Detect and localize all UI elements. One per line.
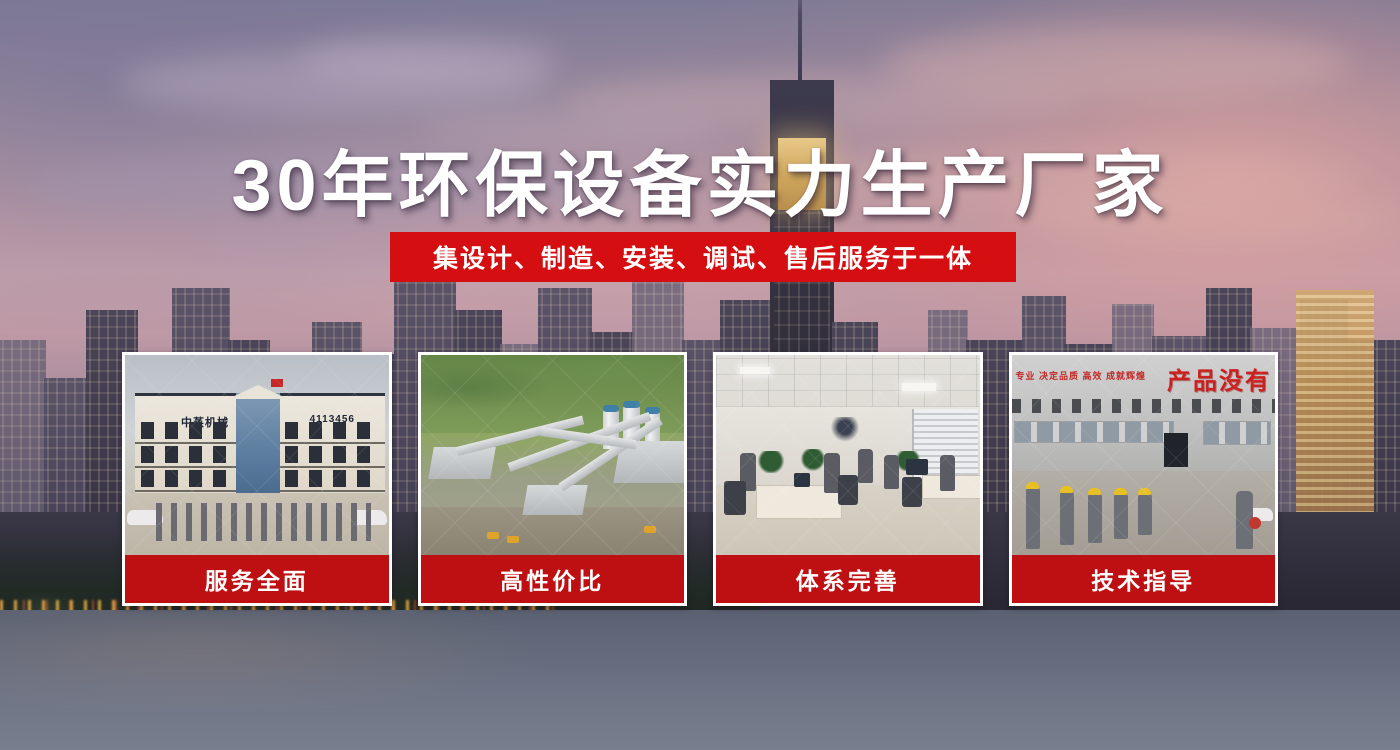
card-photo-factory-workers: 专业 决定品质 高效 成就辉煌 产品没有 [1012,355,1276,555]
page-title: 30年环保设备实力生产厂家 [0,126,1400,231]
feature-card-system[interactable]: 体系完善 [713,352,983,606]
card-caption-text: 技术指导 [1091,562,1195,596]
factory-sign-text: 产品没有 [1167,361,1271,396]
feature-card-list: 中蒸机械 4113456 服务全面 [122,352,1278,606]
subtitle-text: 集设计、制造、安装、调试、售后服务于一体 [433,239,973,275]
card-caption: 体系完善 [716,555,980,603]
card-caption-text: 高性价比 [500,562,604,596]
lit-building [1296,290,1374,522]
card-photo-office-building: 中蒸机械 4113456 [125,355,389,555]
banner-stage: 30年环保设备实力生产厂家 集设计、制造、安装、调试、售后服务于一体 中蒸机械 … [0,0,1400,750]
feature-card-service[interactable]: 中蒸机械 4113456 服务全面 [122,352,392,606]
card-photo-plant-aerial [421,355,685,555]
card-caption: 高性价比 [421,555,685,603]
card-photo-office-interior [716,355,980,555]
card-caption: 服务全面 [125,555,389,603]
water-reflection [0,610,1400,750]
feature-card-training[interactable]: 专业 决定品质 高效 成就辉煌 产品没有 [1009,352,1279,606]
subtitle-banner: 集设计、制造、安装、调试、售后服务于一体 [390,232,1016,282]
feature-card-value[interactable]: 高性价比 [418,352,688,606]
tower-spire [798,0,802,82]
card-caption-text: 体系完善 [796,562,900,596]
factory-sign-small-text: 专业 决定品质 高效 成就辉煌 [1016,371,1147,382]
card-caption-text: 服务全面 [205,562,309,596]
card-caption: 技术指导 [1012,555,1276,603]
